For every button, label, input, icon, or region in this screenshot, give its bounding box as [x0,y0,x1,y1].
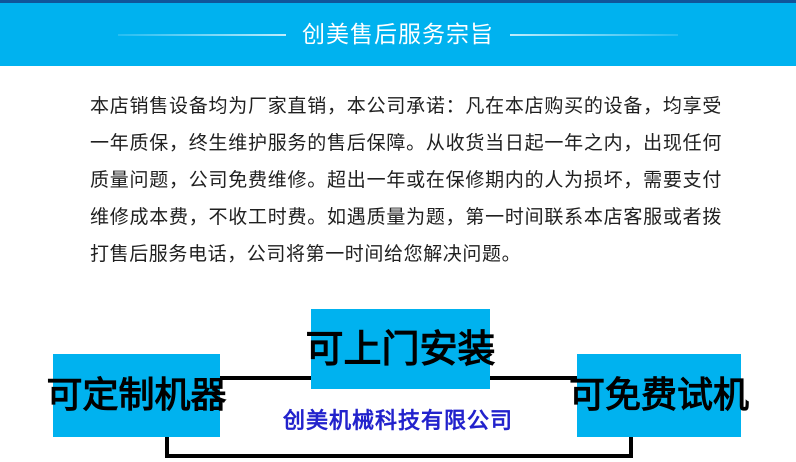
connector-line-left [218,376,313,380]
badge-onsite-install: 可上门安装 [311,309,490,389]
decorative-rule-left [118,34,286,36]
company-name: 创美机械科技有限公司 [0,411,796,433]
promo-banner: 创美售后服务宗旨 本店销售设备均为厂家直销，本公司承诺：凡在本店购买的设备，均享… [0,0,796,462]
decorative-rule-right [510,34,678,36]
bracket-base-line [165,454,633,458]
bottom-bracket [165,430,633,458]
connector-line-right [487,376,579,380]
header-content: 创美售后服务宗旨 [0,3,796,66]
page-title: 创美售后服务宗旨 [286,23,510,46]
header-band: 创美售后服务宗旨 [0,0,796,66]
service-policy-paragraph: 本店销售设备均为厂家直销，本公司承诺：凡在本店购买的设备，均享受一年质保，终生维… [90,88,722,273]
